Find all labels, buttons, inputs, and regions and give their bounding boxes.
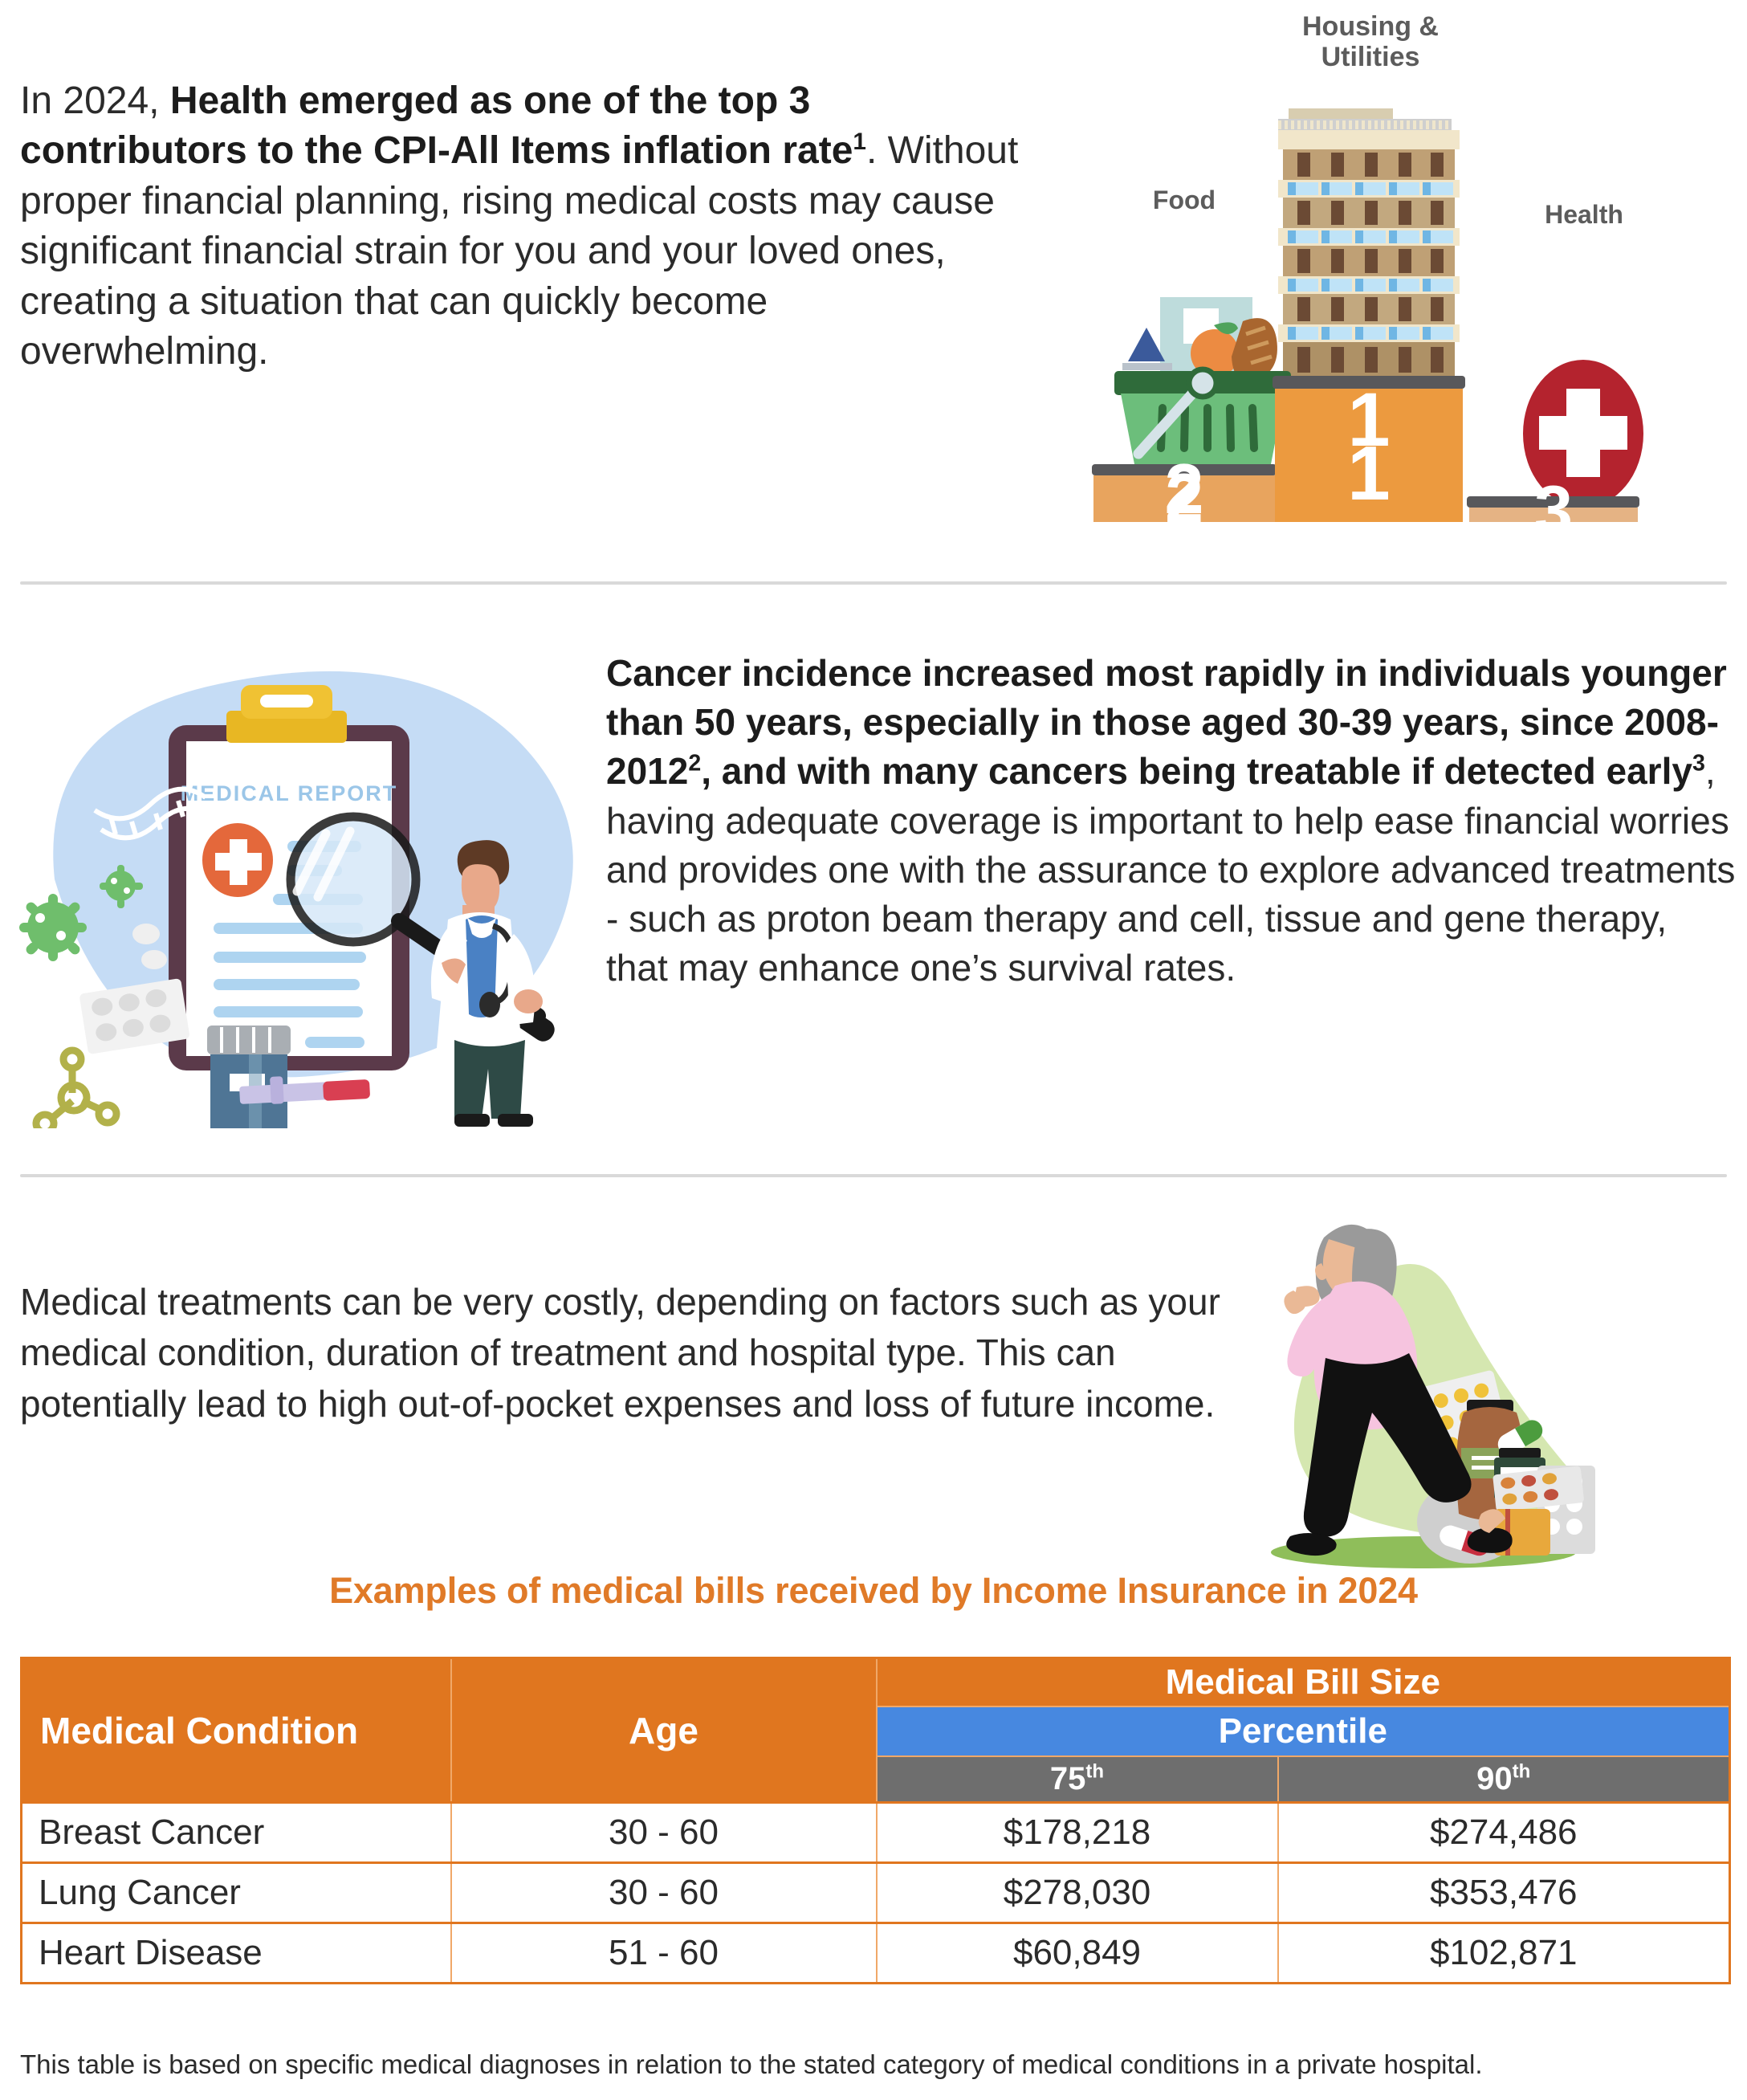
header-medical-condition: Medical Condition: [22, 1658, 451, 1803]
cell-age: 51 - 60: [451, 1923, 877, 1984]
s2-footnote-marker-2: 2: [688, 751, 701, 777]
table-row: Lung Cancer 30 - 60 $278,030 $353,476: [22, 1863, 1730, 1923]
podium-rank-third: 3: [1469, 472, 1638, 549]
cell-condition: Breast Cancer: [22, 1803, 451, 1863]
section1-paragraph: In 2024, Health emerged as one of the to…: [20, 76, 1020, 377]
cell-p75: $178,218: [877, 1803, 1278, 1863]
cell-age: 30 - 60: [451, 1863, 877, 1923]
header-percentile-75: 75th: [877, 1756, 1278, 1803]
header-percentile-90: 90th: [1278, 1756, 1730, 1803]
medical-report-svg: MEDICAL REPORT: [8, 638, 602, 1128]
podium-label-third: Health: [1516, 201, 1652, 230]
cell-condition: Lung Cancer: [22, 1863, 451, 1923]
cell-condition: Heart Disease: [22, 1923, 451, 1984]
cell-p90: $102,871: [1278, 1923, 1730, 1984]
podium-rank-second: 2: [1093, 450, 1275, 529]
header-age: Age: [451, 1658, 877, 1803]
cell-p75: $278,030: [877, 1863, 1278, 1923]
podium-label-first: Housing & Utilities: [1254, 11, 1487, 72]
podium-label-second: Food: [1108, 186, 1260, 215]
section2-paragraph: Cancer incidence increased most rapidly …: [606, 649, 1738, 993]
s1-footnote-marker: 1: [853, 128, 866, 155]
infographic-page: In 2024, Health emerged as one of the to…: [0, 0, 1747, 2100]
p90-suffix: th: [1513, 1761, 1531, 1783]
header-percentile: Percentile: [877, 1707, 1730, 1756]
s2-bold: Cancer incidence increased most rapidly …: [606, 652, 1727, 792]
section3-paragraph: Medical treatments can be very costly, d…: [20, 1277, 1224, 1429]
cell-p90: $353,476: [1278, 1863, 1730, 1923]
cell-age: 30 - 60: [451, 1803, 877, 1863]
clipboard-title-text: MEDICAL REPORT: [181, 781, 398, 805]
s2-footnote-marker-3: 3: [1692, 751, 1705, 777]
podium-rank-first: 1: [1275, 377, 1463, 463]
s2-bold-b: , and with many cancers being treatable …: [701, 750, 1692, 792]
header-medical-bill-size: Medical Bill Size: [877, 1658, 1730, 1707]
food-basket-icon: [1114, 297, 1291, 464]
medical-report-illustration: MEDICAL REPORT: [8, 638, 602, 1128]
section-divider-1: [20, 581, 1727, 585]
table-row: Breast Cancer 30 - 60 $178,218 $274,486: [22, 1803, 1730, 1863]
table-footnote: This table is based on specific medical …: [20, 2049, 1729, 2080]
p75-suffix: th: [1085, 1761, 1104, 1783]
section3-paragraph-text: Medical treatments can be very costly, d…: [20, 1277, 1224, 1429]
elderly-woman-medicine-illustration: [1240, 1193, 1618, 1570]
podium-illustration: 2 1 Housing & Utilities Food Health 1 2 …: [1044, 0, 1747, 522]
p90-number: 90: [1476, 1761, 1513, 1796]
p75-number: 75: [1050, 1761, 1086, 1796]
section-divider-2: [20, 1174, 1727, 1177]
table-header-row-1: Medical Condition Age Medical Bill Size: [22, 1658, 1730, 1707]
section2-paragraph-text: Cancer incidence increased most rapidly …: [606, 649, 1738, 993]
table-title: Examples of medical bills received by In…: [0, 1570, 1747, 1612]
cell-p75: $60,849: [877, 1923, 1278, 1984]
medical-bills-table: Medical Condition Age Medical Bill Size …: [20, 1657, 1731, 1984]
table-row: Heart Disease 51 - 60 $60,849 $102,871: [22, 1923, 1730, 1984]
section1-paragraph-text: In 2024, Health emerged as one of the to…: [20, 76, 1020, 377]
elderly-woman-svg: [1240, 1193, 1618, 1570]
cell-p90: $274,486: [1278, 1803, 1730, 1863]
s1-lead: In 2024,: [20, 80, 170, 122]
